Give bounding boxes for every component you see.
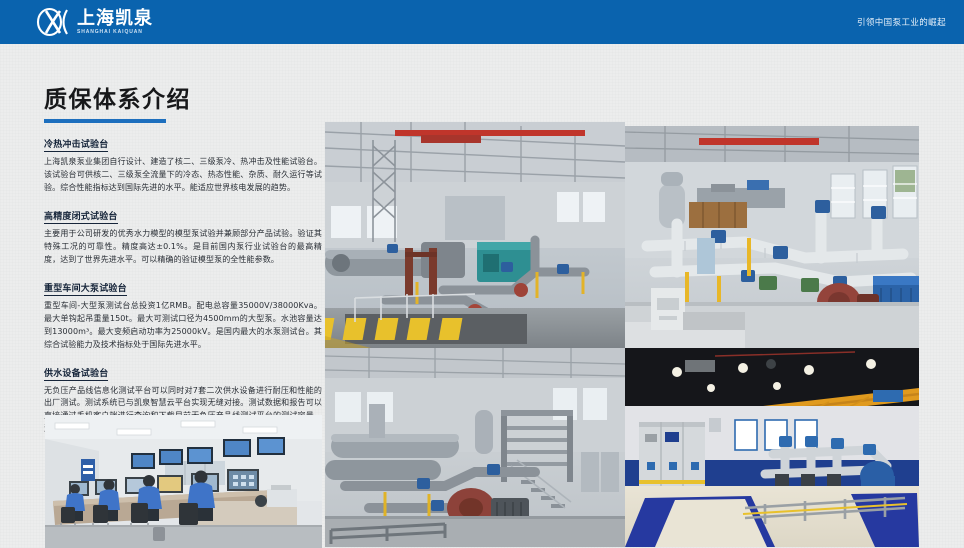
section-heading: 重型车间大泵试验台 (44, 281, 127, 296)
photo-pump-test-hall-wide (325, 122, 625, 348)
section-cold-hot-shock: 冷热冲击试验台 上海凯泉泵业集团自行设计、建造了核二、三级泵冷、热冲击及性能试验… (44, 134, 322, 195)
brand-logo[interactable]: 上海凯泉 SHANGHAI KAIQUAN (36, 7, 153, 37)
section-body: 上海凯泉泵业集团自行设计、建造了核二、三级泵冷、热冲击及性能试验台。该试验台可供… (44, 156, 322, 195)
section-heading: 冷热冲击试验台 (44, 137, 108, 152)
section-body: 重型车间-大型泵测试台总投资1亿RMB。配电总容量35000V/38000Kva… (44, 300, 322, 352)
photo-control-room-operators (45, 415, 322, 548)
top-header-bar: 上海凯泉 SHANGHAI KAIQUAN 引领中国泵工业的崛起 (0, 0, 964, 44)
brand-name-cn: 上海凯泉 (77, 10, 153, 28)
title-underline-rule (44, 119, 166, 123)
photo-water-supply-test-room (625, 348, 919, 547)
section-heavy-workshop-pump: 重型车间大泵试验台 重型车间-大型泵测试台总投资1亿RMB。配电总容量35000… (44, 278, 322, 352)
photo-closed-loop-test-rig (625, 126, 919, 348)
photo-heavy-pump-test-bench (325, 348, 625, 547)
page-title: 质保体系介绍 (44, 80, 322, 114)
section-heading: 供水设备试验台 (44, 366, 108, 381)
slide-page: 上海凯泉 SHANGHAI KAIQUAN 引领中国泵工业的崛起 质保体系介绍 … (0, 0, 964, 548)
section-heading: 高精度闭式试验台 (44, 209, 118, 224)
brand-name-en: SHANGHAI KAIQUAN (77, 30, 153, 35)
header-tagline: 引领中国泵工业的崛起 (857, 0, 946, 44)
text-column: 质保体系介绍 冷热冲击试验台 上海凯泉泵业集团自行设计、建造了核二、三级泵冷、热… (44, 80, 322, 436)
kaiquan-logo-icon (36, 7, 70, 37)
section-high-precision-closed: 高精度闭式试验台 主要用于公司研发的优秀水力模型的模型泵试验并兼顾部分产品试验。… (44, 206, 322, 267)
section-body: 主要用于公司研发的优秀水力模型的模型泵试验并兼顾部分产品试验。验证其特殊工况的可… (44, 228, 322, 267)
slide-canvas: 质保体系介绍 冷热冲击试验台 上海凯泉泵业集团自行设计、建造了核二、三级泵冷、热… (0, 44, 964, 548)
